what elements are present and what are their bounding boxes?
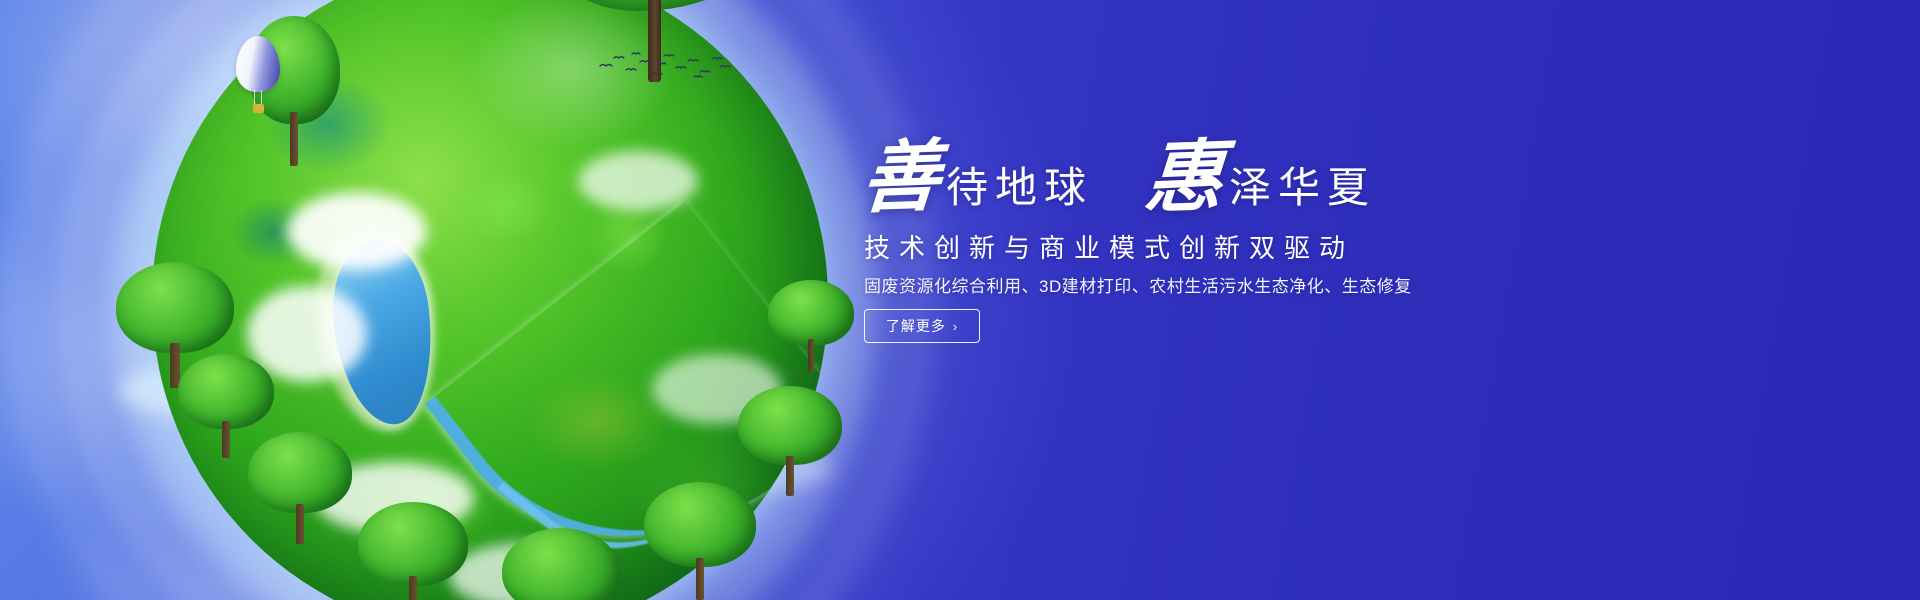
headline-calligraphy-1: 善 [859, 138, 943, 219]
chevron-right-icon: › [953, 320, 958, 333]
learn-more-button[interactable]: 了解更多 › [864, 309, 980, 343]
tree-icon [768, 280, 854, 372]
hero-banner: 善 待地球 惠 泽华夏 技术创新与商业模式创新双驱动 固废资源化综合利用、3D建… [0, 0, 1920, 600]
hero-subtitle: 技术创新与商业模式创新双驱动 [864, 228, 1354, 265]
hero-copy: 善 待地球 惠 泽华夏 技术创新与商业模式创新双驱动 固废资源化综合利用、3D建… [862, 0, 1862, 600]
hero-description: 固废资源化综合利用、3D建材打印、农村生活污水生态净化、生态修复 [864, 272, 1412, 297]
headline-text-1: 待地球 [946, 154, 1093, 215]
planet-cloud [287, 192, 427, 270]
tree-icon [248, 432, 352, 544]
tree-icon [358, 502, 468, 600]
tree-icon [502, 528, 620, 600]
headline-calligraphy-2: 惠 [1142, 138, 1226, 219]
headline-text-2: 泽华夏 [1229, 154, 1376, 215]
page-title: 善 待地球 惠 泽华夏 [862, 133, 1376, 223]
learn-more-label: 了解更多 [886, 316, 946, 336]
planet-cloud [578, 151, 698, 211]
tree-icon [738, 386, 842, 496]
bird-flock-icon [596, 50, 732, 88]
tree-icon [644, 482, 756, 600]
hot-air-balloon-icon [236, 36, 280, 118]
